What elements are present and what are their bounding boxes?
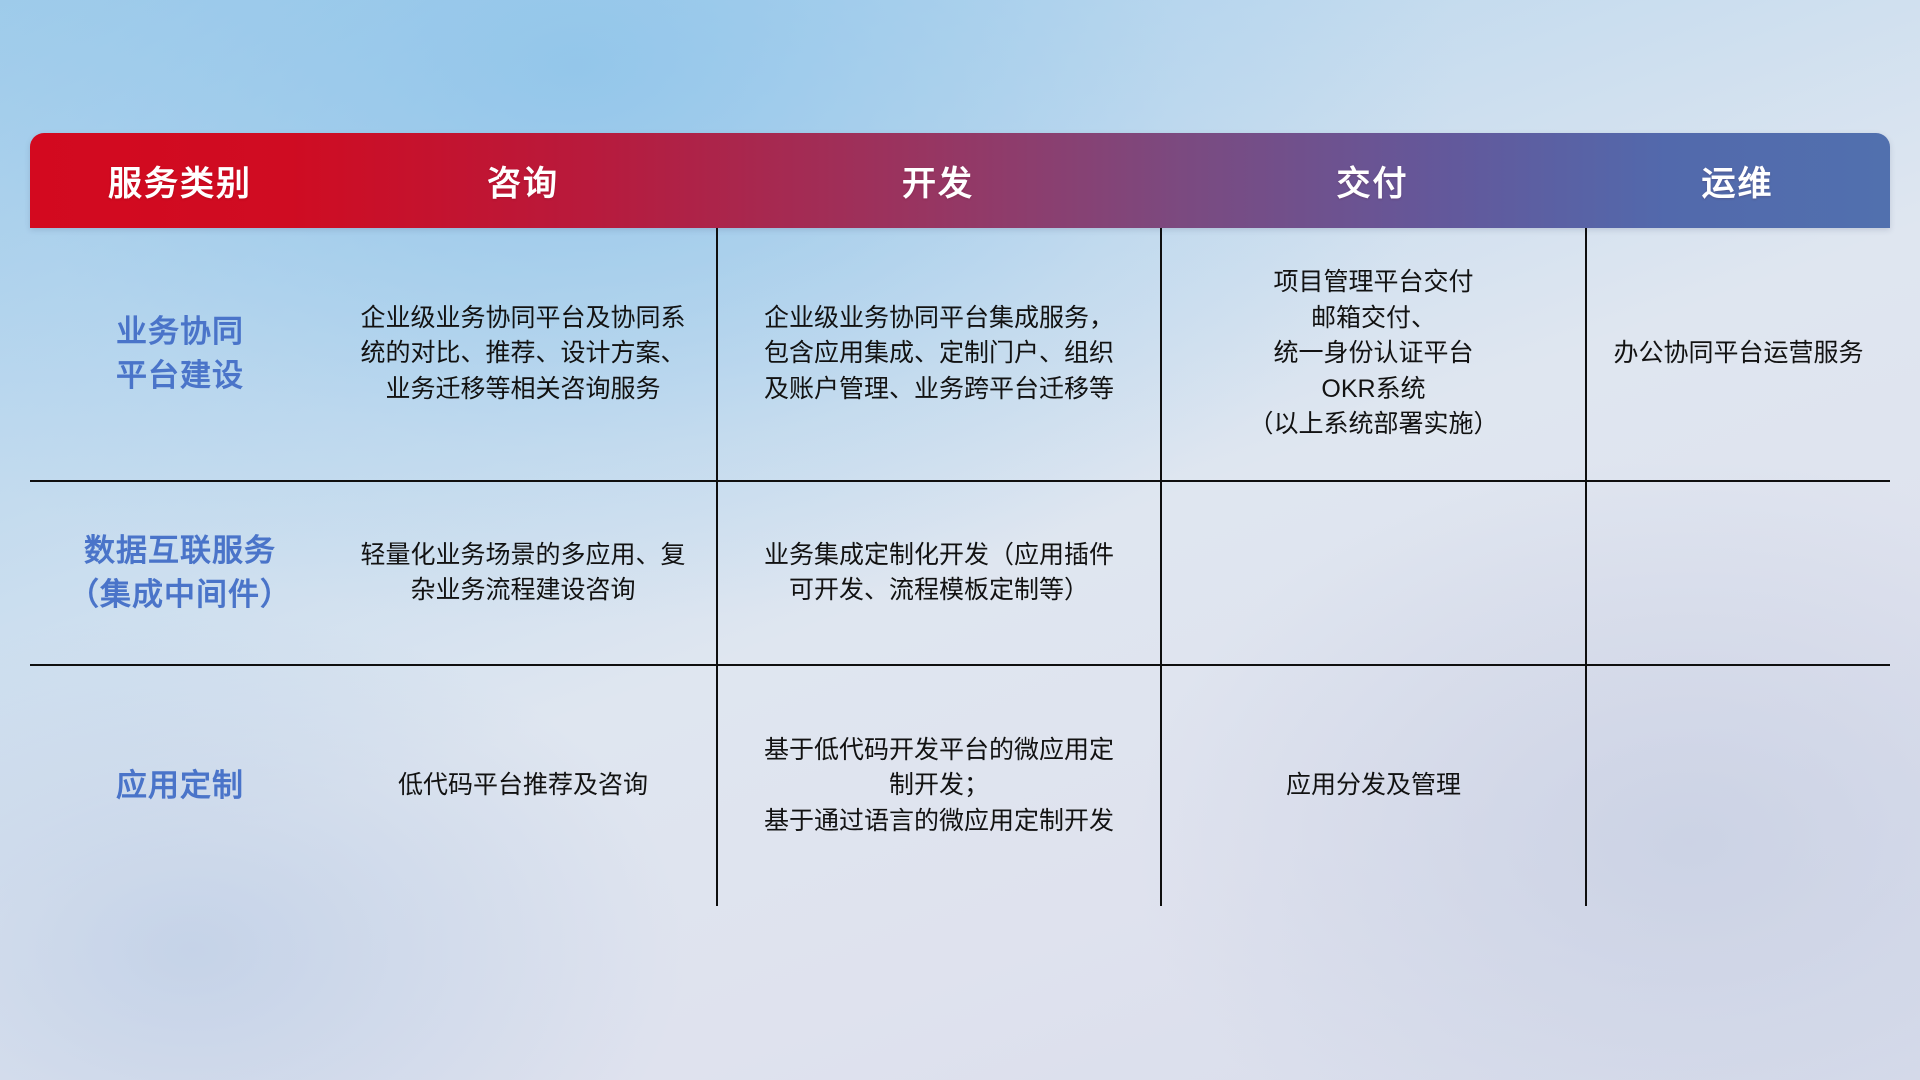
cell-consulting: 低代码平台推荐及咨询 — [330, 666, 716, 906]
column-header-delivery: 交付 — [1160, 133, 1585, 228]
table-body: 业务协同 平台建设 企业级业务协同平台及协同系 统的对比、推荐、设计方案、 业务… — [30, 228, 1890, 906]
row-category-cell: 数据互联服务 （集成中间件） — [30, 482, 330, 664]
table-row: 业务协同 平台建设 企业级业务协同平台及协同系 统的对比、推荐、设计方案、 业务… — [30, 228, 1890, 480]
cell-development: 企业级业务协同平台集成服务， 包含应用集成、定制门户、组织 及账户管理、业务跨平… — [716, 228, 1160, 480]
column-header-label: 咨询 — [487, 156, 559, 205]
category-label: 业务协同 平台建设 — [116, 310, 244, 398]
cell-delivery — [1160, 482, 1585, 664]
table-row: 应用定制 低代码平台推荐及咨询 基于低代码开发平台的微应用定 制开发； 基于通过… — [30, 664, 1890, 906]
cell-delivery: 应用分发及管理 — [1160, 666, 1585, 906]
cell-delivery: 项目管理平台交付 邮箱交付、 统一身份认证平台 OKR系统 （以上系统部署实施） — [1160, 228, 1585, 480]
cell-operations: 办公协同平台运营服务 — [1585, 228, 1890, 480]
slide-canvas: 服务类别 咨询 开发 交付 运维 业务协同 平台建设 企业级业务协同平台及协 — [0, 0, 1920, 1080]
column-header-label: 服务类别 — [108, 156, 252, 205]
row-category-cell: 业务协同 平台建设 — [30, 228, 330, 480]
cell-operations — [1585, 482, 1890, 664]
column-header-label: 运维 — [1702, 156, 1774, 205]
column-header-label: 开发 — [902, 156, 974, 205]
table-row: 数据互联服务 （集成中间件） 轻量化业务场景的多应用、复 杂业务流程建设咨询 业… — [30, 480, 1890, 664]
cell-development: 基于低代码开发平台的微应用定 制开发； 基于通过语言的微应用定制开发 — [716, 666, 1160, 906]
cell-consulting: 轻量化业务场景的多应用、复 杂业务流程建设咨询 — [330, 482, 716, 664]
row-category-cell: 应用定制 — [30, 666, 330, 906]
column-header-label: 交付 — [1337, 156, 1409, 205]
column-header-operations: 运维 — [1585, 133, 1890, 228]
service-category-table: 服务类别 咨询 开发 交付 运维 业务协同 平台建设 企业级业务协同平台及协 — [30, 133, 1890, 906]
column-header-service-category: 服务类别 — [30, 133, 330, 228]
category-label: 数据互联服务 （集成中间件） — [68, 529, 292, 617]
category-label: 应用定制 — [116, 764, 244, 808]
table-header-row: 服务类别 咨询 开发 交付 运维 — [30, 133, 1890, 228]
column-header-development: 开发 — [716, 133, 1160, 228]
cell-operations — [1585, 666, 1890, 906]
column-header-consulting: 咨询 — [330, 133, 716, 228]
cell-development: 业务集成定制化开发（应用插件 可开发、流程模板定制等） — [716, 482, 1160, 664]
cell-consulting: 企业级业务协同平台及协同系 统的对比、推荐、设计方案、 业务迁移等相关咨询服务 — [330, 228, 716, 480]
